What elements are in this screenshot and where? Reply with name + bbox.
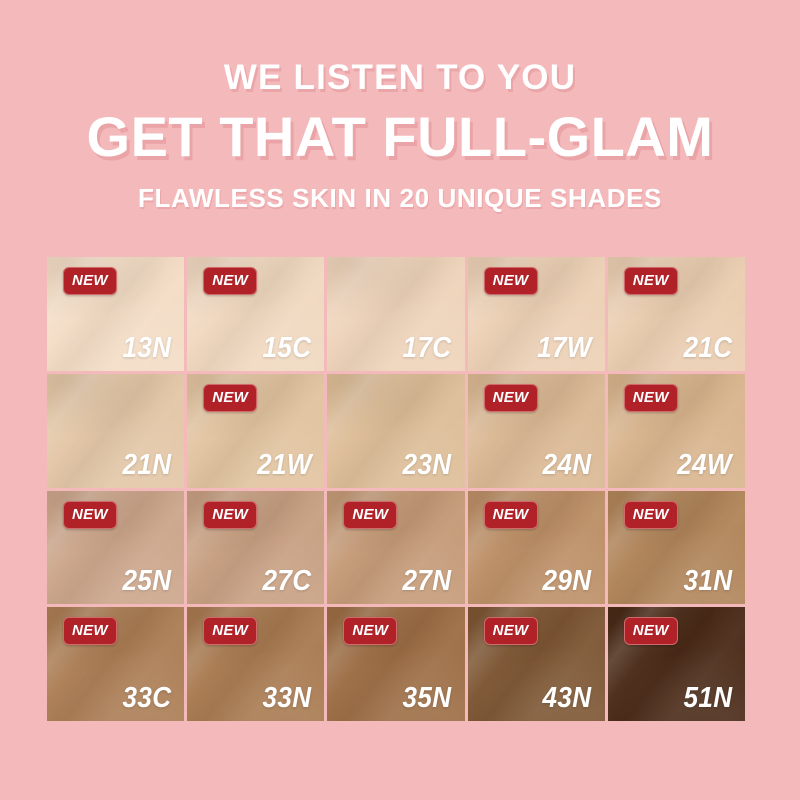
shade-swatch[interactable]: NEW13N [47,257,184,371]
shade-swatch[interactable]: NEW21C [608,257,745,371]
shade-swatch[interactable]: NEW23N [327,374,464,488]
new-badge: NEW [203,501,257,529]
new-badge: NEW [484,267,538,295]
shade-code-label: 21C [683,334,732,363]
new-badge: NEW [203,384,257,412]
shade-swatch[interactable]: NEW15C [187,257,324,371]
shade-swatch[interactable]: NEW24W [608,374,745,488]
shade-code-label: 13N [122,334,171,363]
shade-code-label: 29N [543,567,592,596]
shade-grid: NEW13NNEW15CNEW17CNEW17WNEW21CNEW21NNEW2… [47,257,745,721]
new-badge: NEW [343,501,397,529]
shade-code-label: 24W [677,451,732,480]
shade-swatch[interactable]: NEW17W [468,257,605,371]
shade-code-label: 27C [262,567,311,596]
shade-swatch[interactable]: NEW24N [468,374,605,488]
shade-code-label: 33N [262,684,311,713]
shade-code-label: 27N [403,567,452,596]
new-badge: NEW [343,617,397,645]
shade-code-label: 21N [122,451,171,480]
eyebrow-text: WE LISTEN TO YOU [0,60,800,95]
promo-header: WE LISTEN TO YOU GET THAT FULL-GLAM FLAW… [0,0,800,211]
new-badge: NEW [624,384,678,412]
new-badge: NEW [624,501,678,529]
shade-code-label: 43N [543,684,592,713]
new-badge: NEW [63,501,117,529]
shade-code-label: 17W [537,334,592,363]
shade-code-label: 24N [543,451,592,480]
shade-swatch[interactable]: NEW25N [47,491,184,605]
shade-swatch[interactable]: NEW21N [47,374,184,488]
shade-code-label: 21W [257,451,312,480]
shade-swatch[interactable]: NEW51N [608,607,745,721]
new-badge: NEW [624,617,678,645]
new-badge: NEW [624,267,678,295]
new-badge: NEW [484,384,538,412]
new-badge: NEW [63,267,117,295]
shade-swatch[interactable]: NEW35N [327,607,464,721]
shade-swatch[interactable]: NEW17C [327,257,464,371]
shade-swatch[interactable]: NEW43N [468,607,605,721]
new-badge: NEW [203,617,257,645]
shade-swatch[interactable]: NEW27C [187,491,324,605]
shade-swatch[interactable]: NEW31N [608,491,745,605]
shade-swatch[interactable]: NEW27N [327,491,464,605]
shade-code-label: 17C [403,334,452,363]
shade-code-label: 33C [122,684,171,713]
shade-swatch[interactable]: NEW33C [47,607,184,721]
shade-code-label: 25N [122,567,171,596]
new-badge: NEW [63,617,117,645]
shade-code-label: 35N [403,684,452,713]
shade-code-label: 23N [403,451,452,480]
new-badge: NEW [484,501,538,529]
shade-code-label: 15C [262,334,311,363]
new-badge: NEW [203,267,257,295]
shade-swatch[interactable]: NEW21W [187,374,324,488]
new-badge: NEW [484,617,538,645]
shade-swatch[interactable]: NEW29N [468,491,605,605]
subtitle-text: FLAWLESS SKIN IN 20 UNIQUE SHADES [0,185,800,211]
shade-code-label: 51N [683,684,732,713]
shade-swatch[interactable]: NEW33N [187,607,324,721]
shade-code-label: 31N [683,567,732,596]
page-title: GET THAT FULL-GLAM [0,109,800,165]
